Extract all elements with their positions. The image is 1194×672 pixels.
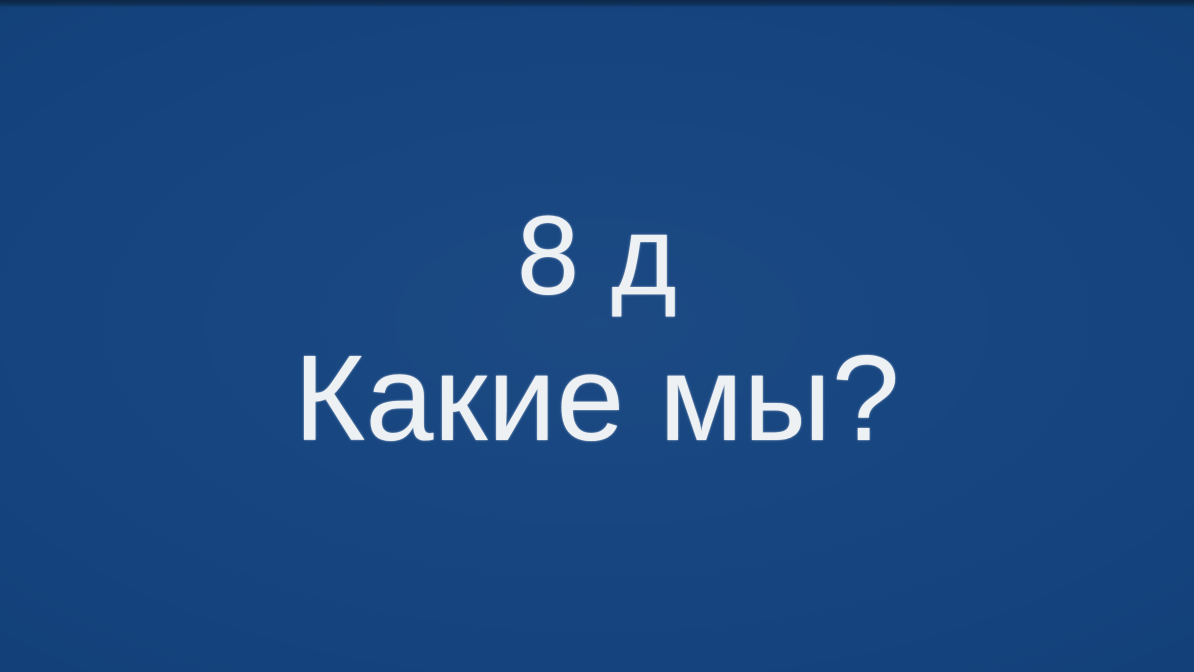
title-line-1: 8 д [0,196,1194,316]
title-line-2: Какие мы? [0,330,1194,467]
top-edge-band [0,0,1194,7]
title-block: 8 д Какие мы? [0,196,1194,466]
slide-canvas: 8 д Какие мы? [0,0,1194,672]
